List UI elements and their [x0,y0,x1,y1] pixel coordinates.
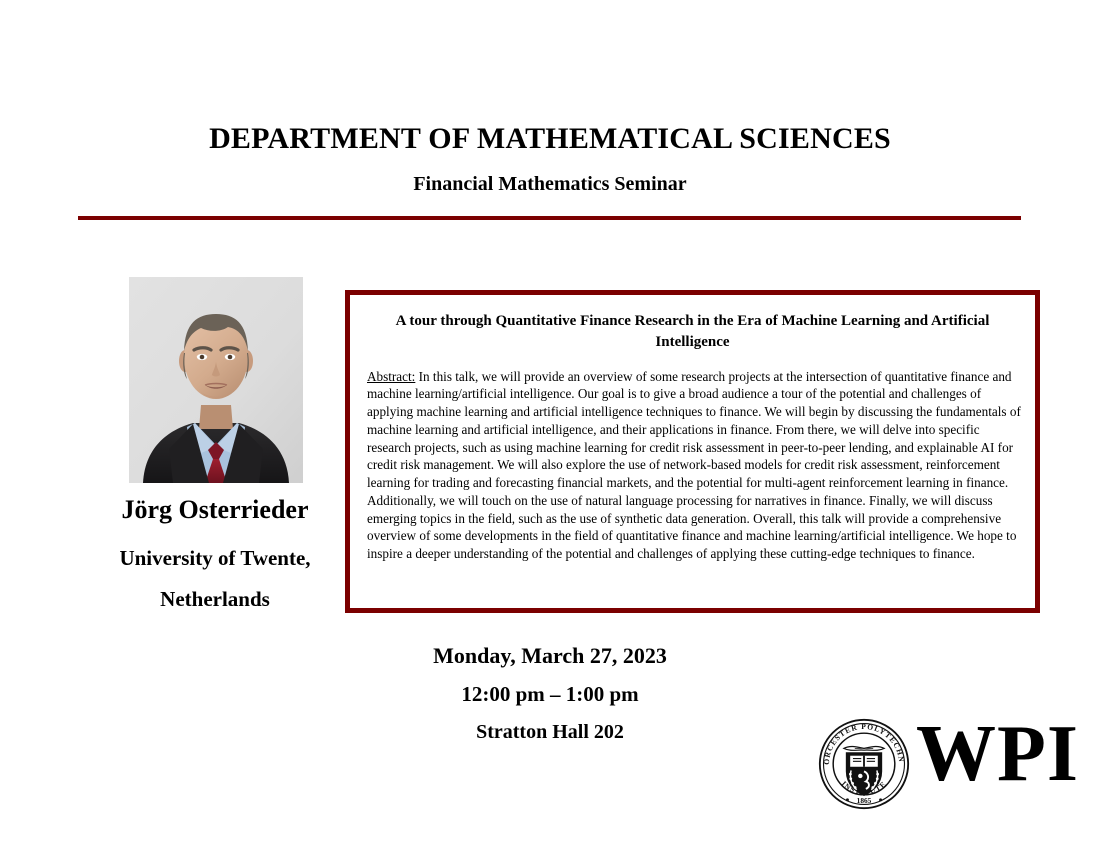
event-time: 12:00 pm – 1:00 pm [250,684,850,705]
speaker-affiliation: University of Twente, Netherlands [60,538,370,620]
header-divider [78,216,1021,220]
speaker-photo [129,277,303,483]
abstract-title: A tour through Quantitative Finance Rese… [372,311,1013,354]
seminar-subtitle: Financial Mathematics Seminar [0,172,1100,196]
event-date: Monday, March 27, 2023 [250,645,850,667]
abstract-box: A tour through Quantitative Finance Rese… [345,290,1040,613]
wpi-logo: WORCESTER POLYTECHNIC INSTITUTE 18 [818,716,1068,812]
wpi-seal-icon: WORCESTER POLYTECHNIC INSTITUTE 18 [818,718,910,810]
event-location: Stratton Hall 202 [250,722,850,742]
abstract-body: Abstract: In this talk, we will provide … [367,368,1021,563]
speaker-name: Jörg Osterrieder [60,495,370,525]
event-details: Monday, March 27, 2023 12:00 pm – 1:00 p… [250,645,850,742]
page-title: DEPARTMENT OF MATHEMATICAL SCIENCES [0,122,1100,155]
seal-year-text: 1865 [857,796,872,805]
speaker-affiliation-line2: Netherlands [60,579,370,620]
headshot-illustration [129,277,303,483]
wpi-wordmark: WPI [916,714,1079,794]
abstract-label: Abstract: [367,369,415,384]
speaker-affiliation-line1: University of Twente, [60,538,370,579]
abstract-text: In this talk, we will provide an overvie… [367,369,1021,562]
